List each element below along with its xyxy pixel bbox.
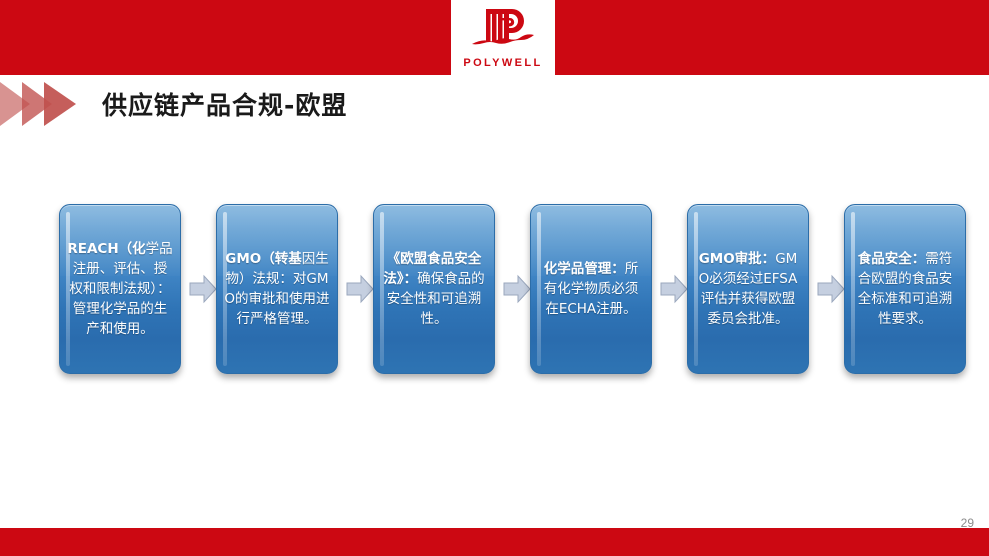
footer-band (0, 528, 989, 556)
flow-node-label: 化学品管理：所有化学物质必须在ECHA注册。 (538, 259, 644, 319)
flow-node-heading: GMO审批： (699, 251, 776, 267)
logo-panel: POLYWELL (451, 0, 555, 75)
flow-node-heading: 食品安全： (858, 251, 926, 267)
flow-node-eu-food-safety-law[interactable]: 《欧盟食品安全法》：确保食品的安全性和可追溯性。 (373, 204, 495, 374)
right-arrow-icon (817, 274, 845, 304)
flow-node-heading: GMO（转基 (225, 251, 302, 267)
flow-node-heading: REACH（化 (67, 241, 145, 257)
flow-node-reach[interactable]: REACH（化学品注册、评估、授权和限制法规）：管理化学品的生产和使用。 (59, 204, 181, 374)
triple-arrow-icon (0, 78, 100, 130)
flow-node-food-safety[interactable]: 食品安全：需符合欧盟的食品安全标准和可追溯性要求。 (844, 204, 966, 374)
right-arrow-icon (503, 274, 531, 304)
title-row: 供应链产品合规-欧盟 (0, 78, 989, 136)
polywell-logo-icon (468, 6, 538, 58)
flow-node-gmo-regulation[interactable]: GMO（转基因生物）法规：对GMO的审批和使用进行严格管理。 (216, 204, 338, 374)
flow-node-label: REACH（化学品注册、评估、授权和限制法规）：管理化学品的生产和使用。 (67, 239, 173, 339)
flow-node-label: 《欧盟食品安全法》：确保食品的安全性和可追溯性。 (381, 249, 487, 329)
flow-node-label: 食品安全：需符合欧盟的食品安全标准和可追溯性要求。 (852, 249, 958, 329)
right-arrow-icon (346, 274, 374, 304)
page-title: 供应链产品合规-欧盟 (102, 86, 347, 122)
logo-wordmark: POLYWELL (463, 58, 542, 69)
right-arrow-icon (189, 274, 217, 304)
flow-node-heading: 化学品管理： (544, 261, 625, 277)
flow-node-chemical-management[interactable]: 化学品管理：所有化学物质必须在ECHA注册。 (530, 204, 652, 374)
flow-node-label: GMO（转基因生物）法规：对GMO的审批和使用进行严格管理。 (224, 249, 330, 329)
right-arrow-icon (660, 274, 688, 304)
flow-diagram: REACH（化学品注册、评估、授权和限制法规）：管理化学品的生产和使用。 GMO… (0, 196, 989, 386)
flow-node-gmo-approval[interactable]: GMO审批：GMO必须经过EFSA评估并获得欧盟委员会批准。 (687, 204, 809, 374)
header-band: POLYWELL (0, 0, 989, 75)
flow-node-label: GMO审批：GMO必须经过EFSA评估并获得欧盟委员会批准。 (695, 249, 801, 329)
